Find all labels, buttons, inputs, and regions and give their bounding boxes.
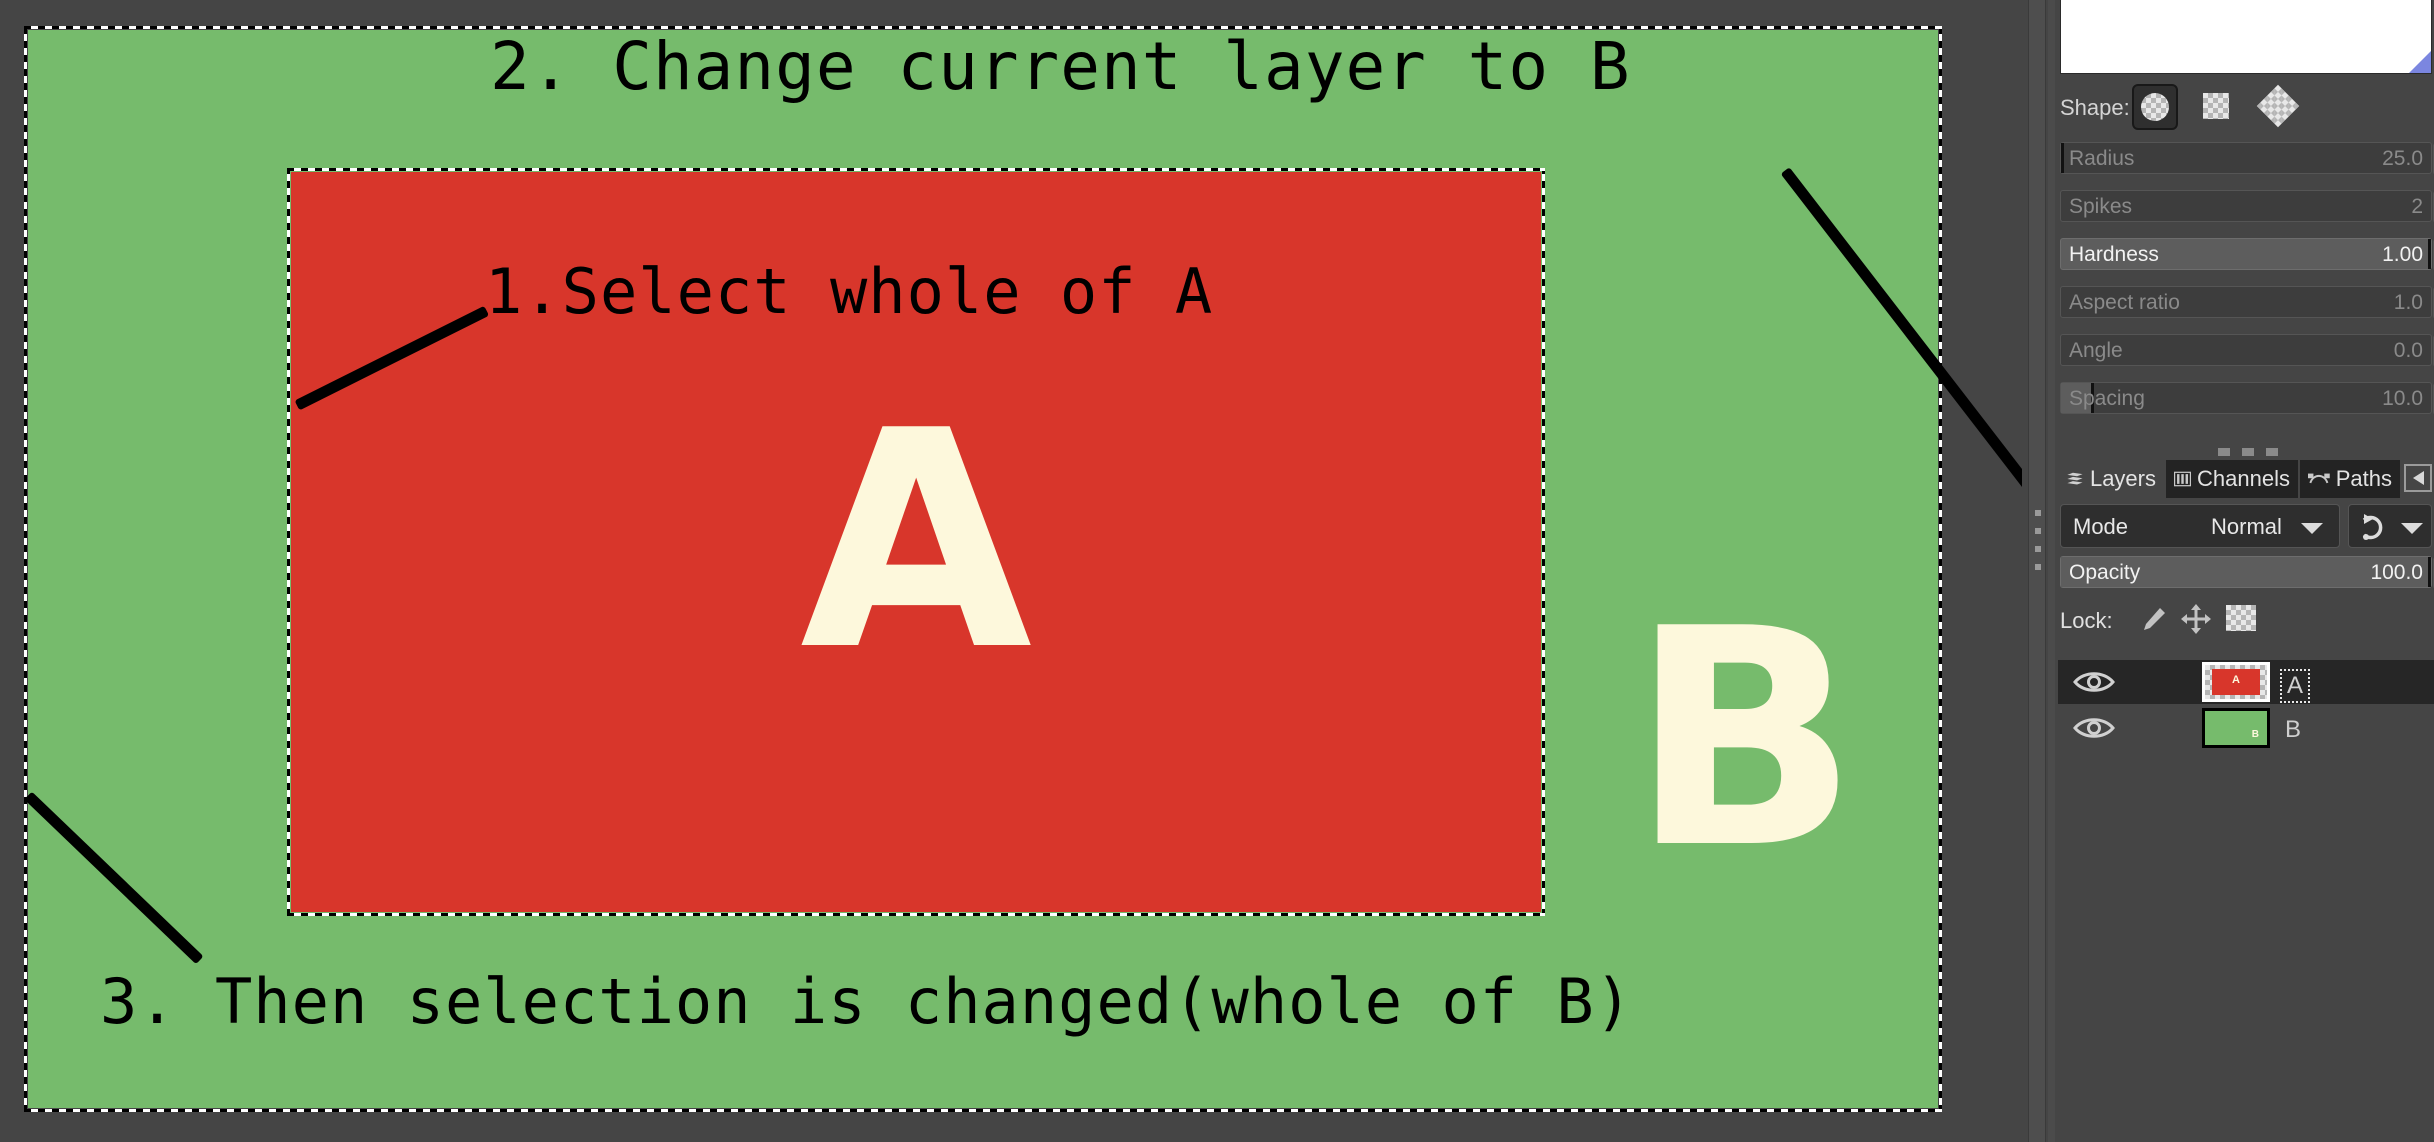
- opacity-label: Opacity: [2069, 561, 2140, 585]
- layer-row-b[interactable]: B B: [2058, 706, 2434, 750]
- layer-thumbnail-a[interactable]: A: [2202, 662, 2270, 702]
- tab-layers[interactable]: Layers: [2058, 460, 2164, 498]
- layer-mode-row: Mode Normal: [2060, 504, 2432, 548]
- dock-drag-handle[interactable]: [2035, 510, 2041, 580]
- canvas-letter-a: A: [800, 392, 1032, 692]
- brush-shape-row: Shape:: [2060, 84, 2432, 132]
- paths-icon: [2308, 467, 2330, 491]
- slider-hardness-label: Hardness: [2069, 243, 2159, 267]
- slider-aspect-ratio-label: Aspect ratio: [2069, 291, 2180, 315]
- eye-visibility-icon-b[interactable]: [2072, 714, 2116, 742]
- slider-spacing[interactable]: Spacing 10.0: [2060, 382, 2432, 414]
- mode-label: Mode: [2073, 514, 2128, 540]
- slider-hardness-value: 1.00: [2382, 243, 2423, 267]
- slider-angle-label: Angle: [2069, 339, 2123, 363]
- tab-channels-label: Channels: [2197, 466, 2290, 492]
- opacity-value: 100.0: [2370, 561, 2423, 585]
- dock-menu-button[interactable]: [2404, 464, 2432, 492]
- revert-icon: [2355, 510, 2389, 544]
- slider-spikes-value: 2: [2411, 195, 2423, 219]
- slider-spikes[interactable]: Spikes 2: [2060, 190, 2432, 222]
- circle-shape-icon[interactable]: [2132, 84, 2178, 130]
- dock-tab-bar: Layers Channels: [2058, 460, 2434, 498]
- gimp-window: A B 2. Change current layer to B 1.Selec…: [0, 0, 2434, 1142]
- chevron-down-icon-revert: [2401, 523, 2423, 534]
- slider-radius[interactable]: Radius 25.0: [2060, 142, 2432, 174]
- layer-name-a[interactable]: A: [2280, 669, 2310, 703]
- slider-angle[interactable]: Angle 0.0: [2060, 334, 2432, 366]
- eye-visibility-icon-a[interactable]: [2072, 668, 2116, 696]
- right-dock: Shape: Radius 25.0 Spikes: [2022, 0, 2434, 1142]
- layer-row-a[interactable]: A A: [2058, 660, 2434, 704]
- tab-layers-label: Layers: [2090, 466, 2156, 492]
- annotation-step-1: 1.Select whole of A: [485, 255, 1213, 328]
- tab-paths[interactable]: Paths: [2300, 460, 2400, 498]
- channels-icon: [2174, 466, 2191, 492]
- brush-preview-corner-icon: [2409, 51, 2431, 73]
- dock-separator: [2048, 0, 2055, 1142]
- tab-paths-label: Paths: [2336, 466, 2392, 492]
- image-canvas-area[interactable]: A B 2. Change current layer to B 1.Selec…: [0, 0, 2022, 1142]
- dock-resize-grip[interactable]: [2028, 0, 2046, 1142]
- slider-spikes-label: Spikes: [2069, 195, 2132, 219]
- lock-row: Lock:: [2060, 600, 2432, 640]
- lock-label: Lock:: [2060, 608, 2113, 634]
- dock-body: Shape: Radius 25.0 Spikes: [2058, 0, 2434, 1142]
- square-shape-icon[interactable]: [2194, 84, 2240, 130]
- annotation-step-3: 3. Then selection is changed(whole of B): [100, 965, 1633, 1038]
- slider-hardness[interactable]: Hardness 1.00: [2060, 238, 2432, 270]
- tab-channels[interactable]: Channels: [2166, 460, 2298, 498]
- slider-angle-value: 0.0: [2394, 339, 2423, 363]
- slider-radius-value: 25.0: [2382, 147, 2423, 171]
- shape-label: Shape:: [2060, 95, 2130, 121]
- layer-mode-revert-button[interactable]: [2348, 504, 2432, 548]
- slider-spacing-value: 10.0: [2382, 387, 2423, 411]
- move-lock-icon[interactable]: [2180, 603, 2212, 635]
- brush-preview[interactable]: [2060, 0, 2432, 74]
- layer-name-b[interactable]: B: [2280, 715, 2306, 745]
- diamond-shape-icon[interactable]: [2256, 84, 2302, 130]
- layers-icon: [2066, 466, 2084, 492]
- opacity-slider[interactable]: Opacity 100.0: [2060, 556, 2432, 588]
- brush-lock-icon[interactable]: [2138, 604, 2168, 634]
- slider-aspect-ratio[interactable]: Aspect ratio 1.0: [2060, 286, 2432, 318]
- layer-thumbnail-b[interactable]: B: [2202, 708, 2270, 748]
- chevron-down-icon: [2301, 523, 2323, 534]
- alpha-lock-icon[interactable]: [2226, 605, 2256, 631]
- layer-mode-dropdown[interactable]: Mode Normal: [2060, 504, 2340, 548]
- mode-value: Normal: [2211, 514, 2282, 540]
- annotation-step-2: 2. Change current layer to B: [490, 28, 1631, 105]
- slider-spacing-label: Spacing: [2069, 387, 2145, 411]
- slider-aspect-ratio-value: 1.0: [2394, 291, 2423, 315]
- slider-radius-label: Radius: [2069, 147, 2134, 171]
- canvas-letter-b: B: [1630, 590, 1859, 890]
- dock-section-handle[interactable]: [2218, 448, 2278, 456]
